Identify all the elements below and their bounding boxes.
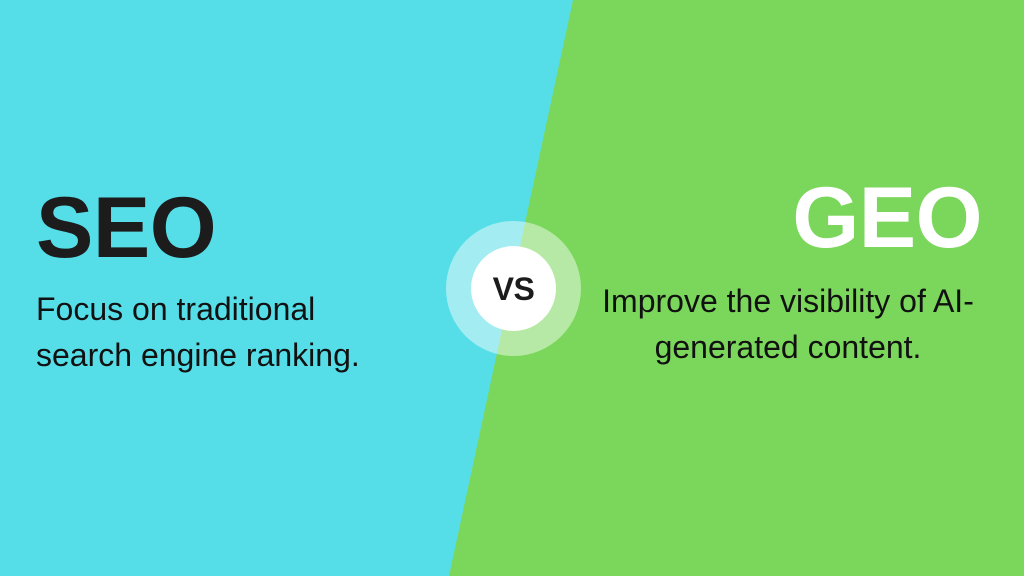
comparison-graphic: SEO Focus on traditional search engine r… [0,0,1024,576]
versus-badge: VS [446,221,581,356]
left-heading-seo: SEO [36,186,436,270]
right-heading-geo: GEO [586,176,990,260]
right-content-block: GEO Improve the visibility of AI-generat… [586,176,990,370]
left-content-block: SEO Focus on traditional search engine r… [36,186,436,378]
right-description: Improve the visibility of AI-generated c… [586,278,990,370]
left-description: Focus on traditional search engine ranki… [36,286,416,378]
versus-badge-circle-icon: VS [471,246,556,331]
versus-badge-label: VS [493,273,535,305]
